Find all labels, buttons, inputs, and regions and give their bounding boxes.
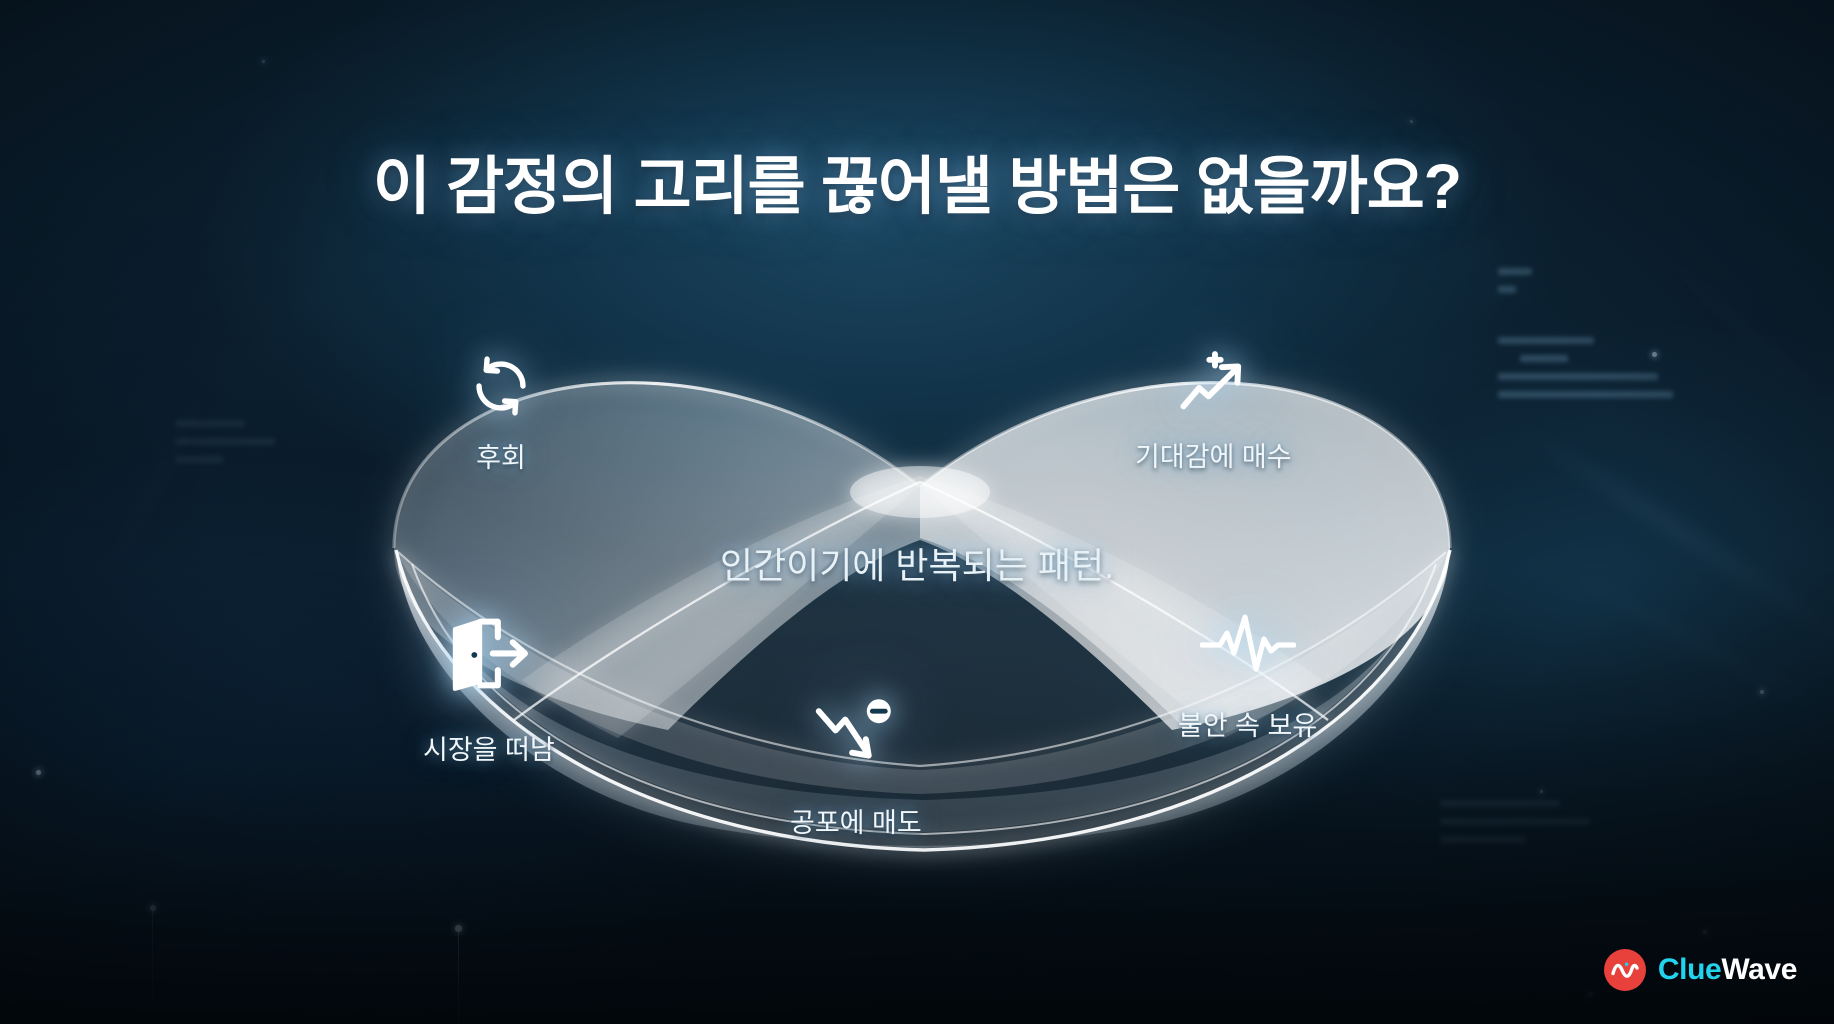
page-title: 이 감정의 고리를 끊어낼 방법은 없을까요? [0, 136, 1834, 227]
cycle-node-label: 불안 속 보유 [1178, 704, 1317, 743]
cycle-node-label: 기대감에 매수 [1135, 435, 1292, 474]
cycle-node-label: 후회 [476, 436, 526, 475]
brand-name-primary: Clue [1658, 953, 1721, 986]
brand-logo[interactable]: ClueWave [1604, 949, 1797, 991]
background-blurred-ui-bottom-right [1440, 800, 1670, 854]
slide-canvas: 이 감정의 고리를 끊어낼 방법은 없을까요? [0, 0, 1834, 1024]
background-blurred-ui-left [175, 420, 295, 474]
infinity-loop-diagram [372, 300, 1472, 880]
cycle-node-leave-market[interactable]: 시장을 떠남 [423, 615, 555, 767]
cycle-node-sell-in-fear[interactable]: 공포에 매도 [790, 698, 922, 840]
cycle-node-hold-in-anxiety[interactable]: 불안 속 보유 [1178, 613, 1317, 743]
cycle-node-label: 시장을 떠남 [423, 728, 555, 767]
cycle-node-label: 공포에 매도 [790, 801, 922, 840]
trend-down-minus-icon [813, 698, 899, 775]
wave-pulse-logo-icon [1604, 949, 1646, 991]
background-blurred-ui-top-right [1498, 268, 1748, 409]
exit-door-icon [446, 615, 532, 702]
brand-name: ClueWave [1658, 953, 1797, 987]
cycle-node-regret[interactable]: 후회 [470, 355, 532, 475]
pulse-heartbeat-icon [1200, 613, 1296, 678]
center-caption: 인간이기에 반복되는 패턴. [0, 537, 1834, 589]
trend-up-plus-icon [1176, 350, 1250, 421]
cycle-node-buy-on-expectation[interactable]: 기대감에 매수 [1135, 350, 1292, 474]
refresh-cycle-icon [470, 355, 532, 422]
brand-name-secondary: Wave [1721, 953, 1797, 986]
